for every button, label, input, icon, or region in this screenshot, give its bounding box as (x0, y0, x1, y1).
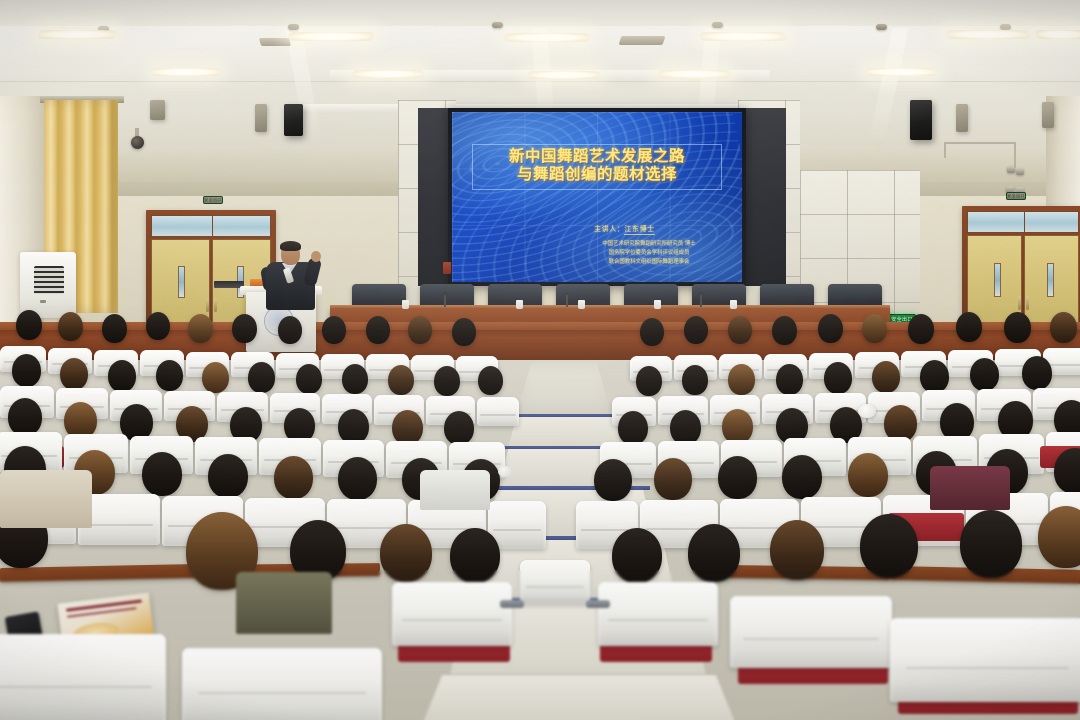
lecture-hall-photo: 新中国舞蹈艺术发展之路 与舞蹈创编的题材选择 主讲人：江东博士 中国艺术研究院舞… (0, 0, 1080, 720)
slide-title-line-2: 与舞蹈创编的题材选择 (475, 166, 719, 184)
projection-screen[interactable]: 新中国舞蹈艺术发展之路 与舞蹈创编的题材选择 主讲人：江东博士 中国艺术研究院舞… (452, 112, 742, 282)
ceiling-spot-fixture-icon (876, 24, 887, 30)
slide-title-box: 新中国舞蹈艺术发展之路 与舞蹈创编的题材选择 (472, 144, 722, 190)
audience-head (960, 510, 1022, 578)
exit-sign-label: 安全出口 (1007, 193, 1025, 199)
slide-presenter-label: 主讲人： (594, 225, 624, 233)
water-cup (516, 300, 523, 309)
table-microphone (566, 294, 568, 307)
audience-head (848, 453, 888, 497)
ceiling-edge-band (0, 0, 1080, 26)
door-handle[interactable] (206, 298, 209, 312)
slide-content: 新中国舞蹈艺术发展之路 与舞蹈创编的题材选择 主讲人：江东博士 中国艺术研究院舞… (452, 112, 742, 282)
slide-affiliation-line-1: 中国艺术研究院舞蹈研究所研究员 博士 (560, 240, 738, 249)
light-rig-arm-horizontal (944, 142, 1016, 144)
emergency-exit-sign-small: 安全出口 (1006, 192, 1026, 200)
audience-head (618, 411, 648, 445)
audience-torso (236, 572, 332, 634)
table-microphone (700, 294, 702, 307)
slide-presenter-name: 江东博士 (624, 225, 654, 235)
audience-head (102, 314, 127, 343)
ceiling-spot-fixture-icon (492, 22, 503, 28)
audience-torso (0, 470, 92, 528)
audience-head (380, 524, 432, 582)
hair-clip-accessory (498, 466, 512, 477)
door-handle[interactable] (1018, 296, 1021, 310)
stage-light-fixture (1007, 166, 1015, 173)
center-aisle (516, 362, 612, 416)
slide-title-line-1: 新中国舞蹈艺术发展之路 (475, 148, 719, 166)
ceiling-light (700, 32, 787, 41)
audience-head (366, 316, 390, 344)
audience-head (248, 362, 275, 393)
audience-head (920, 360, 949, 393)
audience-head (296, 364, 322, 394)
audience-head (1050, 312, 1077, 343)
slide-affiliation-block: 中国艺术研究院舞蹈研究所研究员 博士 国务院学位委员会学科评议组成员 联合国教科… (560, 240, 738, 266)
audience-torso (420, 470, 490, 510)
aisle-step (424, 674, 734, 720)
audience-head (640, 318, 664, 346)
audience-head (818, 314, 843, 343)
wall-speaker-small (150, 100, 165, 120)
audience-head (8, 398, 42, 436)
ceiling-light (151, 68, 220, 76)
door-vision-panel (1047, 263, 1054, 297)
table-microphone (444, 294, 446, 307)
audience-head (654, 458, 692, 500)
audience-head (16, 310, 42, 340)
water-cup (730, 300, 737, 309)
door-vision-panel (994, 263, 1001, 297)
audience-head (1022, 356, 1052, 390)
light-rig-drop (1014, 142, 1016, 168)
audience-head (274, 456, 313, 499)
audience-head (684, 316, 708, 344)
presenter-raised-hand (311, 251, 321, 262)
fire-extinguisher-marker-icon (443, 262, 451, 274)
seat-armrest (586, 600, 610, 608)
audience-head (434, 366, 460, 396)
led-wall-bezel-right (742, 108, 786, 286)
ceiling-air-vent (619, 36, 666, 45)
air-conditioner-grille (34, 266, 64, 294)
wall-speaker-small (956, 104, 968, 132)
ceiling-light (528, 71, 600, 79)
audience-head (58, 312, 83, 341)
audience-torso (930, 466, 1010, 510)
wall-speaker-small (1042, 102, 1054, 128)
audience-head (322, 316, 346, 344)
seat[interactable] (890, 618, 1080, 702)
ceiling-light (658, 70, 731, 78)
wall-speaker-small (255, 104, 267, 132)
water-cup (654, 300, 661, 309)
seat[interactable] (598, 582, 718, 646)
ceiling-light (865, 68, 937, 76)
audience-head (450, 528, 500, 583)
ceiling-light (37, 30, 118, 39)
audience-head (156, 360, 183, 391)
ceiling-light (352, 70, 425, 78)
stage-light-fixture (1016, 168, 1024, 175)
audience-head (728, 364, 755, 395)
wall-speaker (284, 104, 303, 136)
audience-head (338, 457, 377, 500)
emergency-exit-sign-small: 安全出口 (203, 196, 223, 204)
slide-presenter-line: 主讲人：江东博士 (594, 224, 734, 234)
audience-head (232, 314, 257, 343)
seat[interactable] (730, 596, 892, 668)
air-conditioner-indicator-icon (40, 300, 46, 303)
audience-head (1038, 506, 1080, 568)
audience-head (782, 455, 822, 499)
audience-head (108, 360, 136, 392)
audience-head (444, 411, 474, 445)
audience-head (594, 459, 632, 501)
audience-head (636, 366, 662, 396)
slide-affiliation-line-2: 国务院学位委员会学科评议组成员 (560, 249, 738, 258)
audience-head (146, 312, 170, 340)
audience-head (688, 524, 740, 582)
audience-head (718, 456, 757, 499)
audience-head (824, 362, 852, 394)
slide-affiliation-line-3: 联合国教科文组织国际舞蹈理事会 (560, 258, 738, 267)
water-cup (578, 300, 585, 309)
audience-head (670, 410, 701, 445)
light-rig-arm-vertical (944, 142, 946, 158)
door-vision-panel (178, 266, 185, 298)
ceiling-light (504, 33, 590, 42)
audience-head (60, 358, 88, 390)
seat[interactable] (182, 648, 382, 720)
audience-head (682, 365, 708, 395)
audience-head (202, 362, 229, 393)
audience-head (392, 410, 423, 445)
audience-head (388, 365, 414, 395)
ceiling-air-vent (259, 38, 291, 46)
aisle-step-nosing (512, 414, 620, 417)
audience-head (862, 314, 887, 343)
audience-head (1004, 312, 1031, 343)
audience-head (478, 366, 503, 395)
audience-head (338, 409, 369, 444)
audience-head (408, 316, 432, 344)
audience-head (772, 316, 797, 345)
exit-sign-label: 安全出口 (204, 197, 222, 203)
seat[interactable] (477, 397, 519, 426)
audience-head (872, 361, 900, 393)
door-leaf-right[interactable] (1024, 235, 1079, 326)
audience-head (722, 409, 753, 444)
security-camera-icon (131, 136, 144, 149)
presenter-hair (280, 241, 301, 251)
audience-head (188, 314, 213, 343)
seat[interactable] (520, 560, 590, 604)
audience-head (908, 314, 934, 344)
audience-head (452, 318, 476, 346)
wall-speaker (910, 100, 932, 140)
door-transom-window (151, 215, 271, 237)
audience-head (770, 520, 824, 580)
audience-head (970, 358, 999, 391)
seat[interactable] (0, 634, 166, 720)
door-transom-window (967, 211, 1079, 233)
ceiling-spot-fixture-icon (288, 24, 299, 30)
ceiling-light (945, 30, 1031, 39)
audience-head (728, 316, 752, 344)
audience-head (208, 454, 248, 498)
audience-head (612, 528, 662, 583)
ceiling-light (287, 32, 374, 41)
audience-head (278, 316, 302, 344)
door-handle[interactable] (1026, 296, 1029, 310)
water-cup (402, 300, 409, 309)
audience-head (342, 364, 368, 394)
audience-head (776, 364, 803, 395)
door-handle[interactable] (214, 298, 217, 312)
audience-head (142, 452, 182, 496)
ceiling-light (1035, 30, 1080, 39)
audience-head (12, 354, 41, 387)
seat-armrest (500, 600, 524, 608)
audience-head (860, 514, 918, 578)
seat[interactable] (392, 582, 512, 646)
hair-clip-accessory (858, 404, 876, 418)
ceiling-spot-fixture-icon (712, 22, 723, 28)
audience-head (956, 312, 982, 342)
